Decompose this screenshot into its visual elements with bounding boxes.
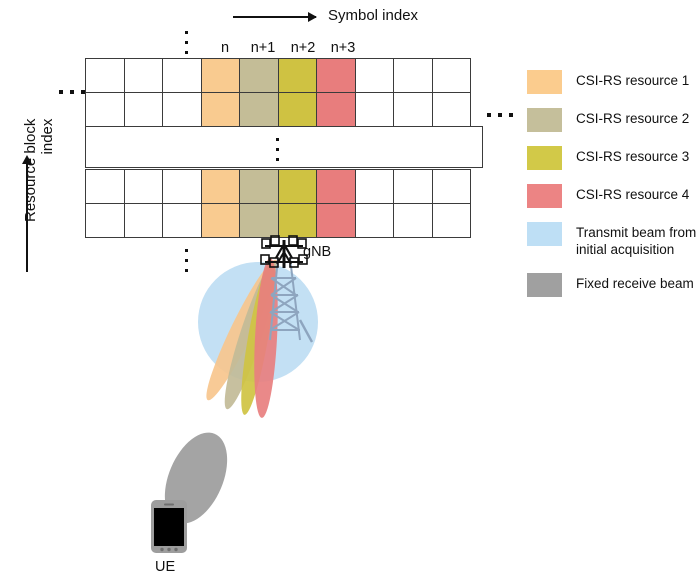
legend-swatch-csi-rs-2: [527, 108, 562, 132]
grid-cell-csi-rs-1: [201, 203, 241, 238]
grid-cell: [355, 58, 395, 93]
wide-transmit-beam: [198, 262, 318, 382]
grid-cell-csi-rs-3: [278, 169, 318, 204]
grid-cell: [85, 169, 125, 204]
legend-label-csi-rs-3: CSI-RS resource 3: [576, 146, 689, 166]
phone-speaker: [164, 504, 174, 506]
csi-rs-beam-4: [251, 258, 281, 419]
legend-label-csi-rs-2: CSI-RS resource 2: [576, 108, 689, 128]
grid-cell-csi-rs-4: [316, 58, 356, 93]
legend-label-csi-rs-4: CSI-RS resource 4: [576, 184, 689, 204]
ue-label: UE: [155, 558, 175, 576]
grid-cell-csi-rs-1: [201, 169, 241, 204]
grid-cell: [124, 169, 164, 204]
narrow-beam-group: [198, 255, 286, 418]
grid-cell-csi-rs-2: [239, 92, 279, 127]
phone-body: [151, 500, 187, 553]
resource-block-index-label: Resource block index: [22, 119, 56, 222]
grid-cell: [85, 92, 125, 127]
grid-cell-csi-rs-3: [278, 92, 318, 127]
grid-row-ellipsis: [85, 126, 483, 168]
legend-item-receive-beam[interactable]: Fixed receive beam: [527, 273, 694, 297]
legend-swatch-csi-rs-1: [527, 70, 562, 94]
resource-grid: [85, 58, 483, 240]
grid-cell: [355, 203, 395, 238]
grid-cell: [393, 92, 433, 127]
symbol-index-arrow: [233, 16, 316, 18]
rb-label-line1: Resource block: [22, 119, 39, 222]
legend-swatch-csi-rs-3: [527, 146, 562, 170]
grid-row-1: [85, 58, 483, 93]
grid-row-2: [85, 92, 483, 127]
grid-cell: [432, 169, 472, 204]
grid-cell: [162, 58, 202, 93]
grid-row-5: [85, 203, 483, 238]
legend-label-receive-beam: Fixed receive beam: [576, 273, 694, 293]
grid-cell: [355, 169, 395, 204]
ellipsis-right-of-grid: [487, 113, 520, 117]
grid-cell-csi-rs-1: [201, 58, 241, 93]
legend-swatch-receive-beam: [527, 273, 562, 297]
grid-cell: [393, 203, 433, 238]
grid-cell: [124, 58, 164, 93]
phone-button: [167, 548, 170, 551]
grid-cell-csi-rs-2: [239, 203, 279, 238]
grid-cell: [432, 58, 472, 93]
ellipsis-left-of-grid: [59, 90, 92, 94]
phone-button: [174, 548, 177, 551]
column-label-n: n: [211, 39, 239, 57]
csi-rs-beam-3: [235, 259, 282, 416]
grid-cell: [393, 58, 433, 93]
grid-cell: [85, 203, 125, 238]
legend-item-transmit-beam[interactable]: Transmit beam from initial acquisition: [527, 222, 696, 259]
grid-cell-csi-rs-4: [316, 169, 356, 204]
legend-item-csi-rs-1[interactable]: CSI-RS resource 1: [527, 70, 689, 94]
fixed-receive-beam: [152, 423, 239, 532]
legend-label-transmit-beam: Transmit beam from initial acquisition: [576, 222, 696, 259]
grid-cell-csi-rs-4: [316, 203, 356, 238]
legend-swatch-transmit-beam: [527, 222, 562, 246]
legend-item-csi-rs-3[interactable]: CSI-RS resource 3: [527, 146, 689, 170]
csi-rs-beam-2: [216, 257, 285, 412]
grid-cell-csi-rs-1: [201, 92, 241, 127]
grid-cell: [162, 169, 202, 204]
symbol-index-label: Symbol index: [328, 7, 418, 24]
rb-label-line2: index: [39, 119, 56, 222]
grid-cell-csi-rs-2: [239, 58, 279, 93]
legend-item-csi-rs-2[interactable]: CSI-RS resource 2: [527, 108, 689, 132]
column-label-n1: n+1: [245, 39, 281, 57]
grid-cell: [162, 92, 202, 127]
grid-cell: [85, 58, 125, 93]
grid-cell: [355, 92, 395, 127]
gnb-tower: [270, 258, 312, 342]
column-label-n2: n+2: [285, 39, 321, 57]
csi-rs-beam-1: [198, 255, 286, 405]
grid-cell: [124, 203, 164, 238]
column-label-n3: n+3: [325, 39, 361, 57]
ellipsis-in-grid: [276, 138, 279, 168]
grid-cell: [124, 92, 164, 127]
grid-cell: [432, 92, 472, 127]
gnb-label: gNB: [303, 243, 331, 261]
ellipsis-below-grid: [185, 249, 188, 279]
ellipsis-above-grid: [185, 31, 188, 61]
gnb-antenna-array: [261, 236, 307, 268]
phone-button: [160, 548, 163, 551]
grid-row-4: [85, 169, 483, 204]
legend-swatch-csi-rs-4: [527, 184, 562, 208]
grid-cell-csi-rs-2: [239, 169, 279, 204]
grid-cell-csi-rs-4: [316, 92, 356, 127]
diagram-canvas: Symbol index Resource block index n n+1 …: [0, 0, 700, 581]
legend-item-csi-rs-4[interactable]: CSI-RS resource 4: [527, 184, 689, 208]
grid-cell-csi-rs-3: [278, 203, 318, 238]
grid-cell: [162, 203, 202, 238]
phone-screen: [154, 508, 184, 546]
legend-label-csi-rs-1: CSI-RS resource 1: [576, 70, 689, 90]
grid-cell-csi-rs-3: [278, 58, 318, 93]
grid-cell: [432, 203, 472, 238]
grid-cell: [393, 169, 433, 204]
ue-device: [151, 500, 187, 553]
